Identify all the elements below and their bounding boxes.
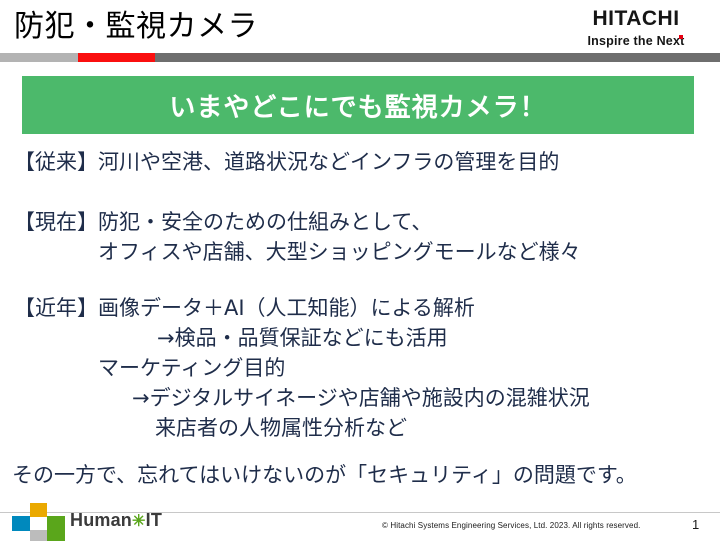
logo-tile-blue (12, 516, 30, 531)
human-it-word-human: Human (70, 510, 132, 530)
hitachi-accent-dot-icon (679, 35, 683, 39)
hitachi-tagline: Inspire the Next (588, 34, 685, 49)
body-line: オフィスや店舗、大型ショッピングモールなど様々 (98, 240, 581, 265)
body-line: →検品・品質保証などにも活用 (157, 326, 448, 351)
asterisk-icon: ✳ (132, 513, 146, 530)
body-line: 来店者の人物属性分析など (155, 416, 407, 441)
logo-tile-amber (30, 503, 47, 517)
human-it-word-it: IT (146, 510, 162, 530)
closing-statement: その一方で、忘れてはいけないのが「セキュリティ」の問題です。 (12, 462, 637, 488)
body-line: →デジタルサイネージや店舗や施設内の混雑状況 (132, 386, 590, 411)
logo-tile-gray (30, 530, 47, 541)
copyright-notice: © Hitachi Systems Engineering Services, … (382, 521, 640, 530)
hitachi-wordmark: HITACHI (566, 8, 706, 30)
human-it-logo: Human✳IT (12, 500, 162, 538)
divider-segment-light (0, 53, 78, 62)
human-it-wordmark: Human✳IT (70, 510, 162, 531)
headline-banner: いまやどこにでも監視カメラ！ (22, 76, 694, 134)
body-line: 【近年】画像データ＋AI（人工知能）による解析 (14, 296, 475, 321)
hitachi-tagline-text: Inspire the Next (588, 34, 685, 48)
human-it-logo-tiles-icon (12, 503, 64, 539)
title-divider-bar (0, 53, 720, 62)
hitachi-logo: HITACHI Inspire the Next (566, 8, 706, 49)
divider-segment-red (78, 53, 155, 62)
body-line: 【従来】河川や空港、道路状況などインフラの管理を目的 (14, 150, 559, 175)
body-line: マーケティング目的 (98, 356, 285, 381)
body-line: 【現在】防犯・安全のための仕組みとして、 (14, 210, 432, 235)
page-title: 防犯・監視カメラ (14, 7, 258, 47)
divider-segment-dark (155, 53, 720, 62)
headline-banner-text: いまやどこにでも監視カメラ！ (169, 87, 546, 124)
logo-tile-green (47, 516, 65, 541)
page-number: 1 (692, 517, 699, 532)
